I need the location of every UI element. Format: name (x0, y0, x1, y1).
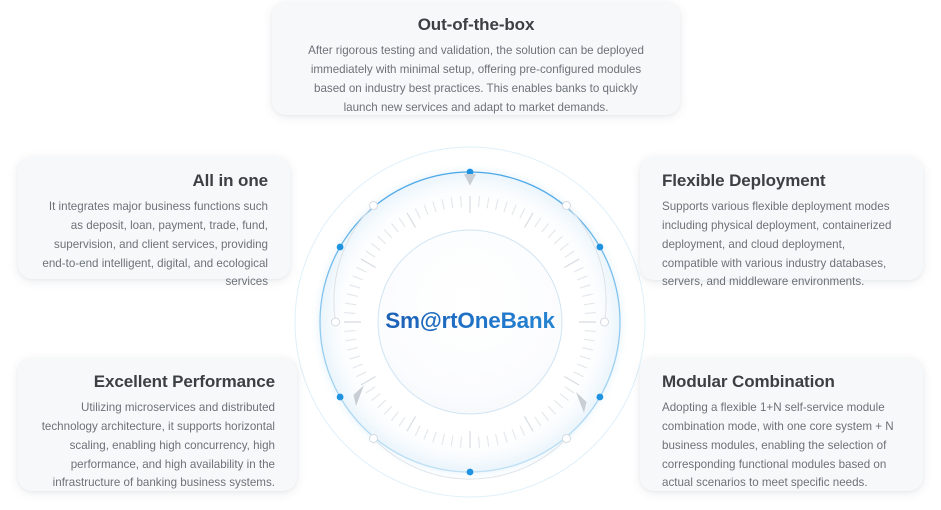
inner-disc (378, 230, 562, 414)
card-body-modular-combination: Adopting a flexible 1+N self-service mod… (662, 399, 901, 493)
card-title-flexible-deployment: Flexible Deployment (662, 170, 901, 191)
feature-card-all-in-one[interactable]: All in one It integrates major business … (18, 157, 290, 279)
card-body-out-of-the-box: After rigorous testing and validation, t… (298, 42, 654, 117)
card-title-all-in-one: All in one (40, 170, 268, 191)
card-title-modular-combination: Modular Combination (662, 371, 901, 392)
hero-circle-graphic: Sm@rtOneBank (280, 130, 660, 510)
card-title-out-of-the-box: Out-of-the-box (298, 14, 654, 35)
arc-endpoint-right (601, 318, 609, 326)
feature-card-modular-combination[interactable]: Modular Combination Adopting a flexible … (640, 358, 923, 491)
ring-dot-2 (597, 244, 604, 251)
card-body-excellent-performance: Utilizing microservices and distributed … (40, 399, 275, 493)
arc-endpoint-top-left (370, 202, 378, 210)
card-body-all-in-one: It integrates major business functions s… (40, 198, 268, 292)
hero-circle-svg (280, 130, 660, 510)
feature-card-out-of-the-box[interactable]: Out-of-the-box After rigorous testing an… (272, 2, 680, 115)
card-body-flexible-deployment: Supports various flexible deployment mod… (662, 198, 901, 292)
feature-card-excellent-performance[interactable]: Excellent Performance Utilizing microser… (18, 358, 297, 491)
card-title-excellent-performance: Excellent Performance (40, 371, 275, 392)
arc-endpoint-bottom-left (370, 435, 378, 443)
feature-card-flexible-deployment[interactable]: Flexible Deployment Supports various fle… (640, 157, 923, 280)
ring-dot-5 (337, 394, 344, 401)
arc-endpoint-top-right (563, 202, 571, 210)
arc-endpoint-bottom-right (563, 435, 571, 443)
ring-dot-3 (597, 394, 604, 401)
ring-dot-4 (467, 469, 474, 476)
arc-endpoint-left (332, 318, 340, 326)
ring-dot-6 (337, 244, 344, 251)
